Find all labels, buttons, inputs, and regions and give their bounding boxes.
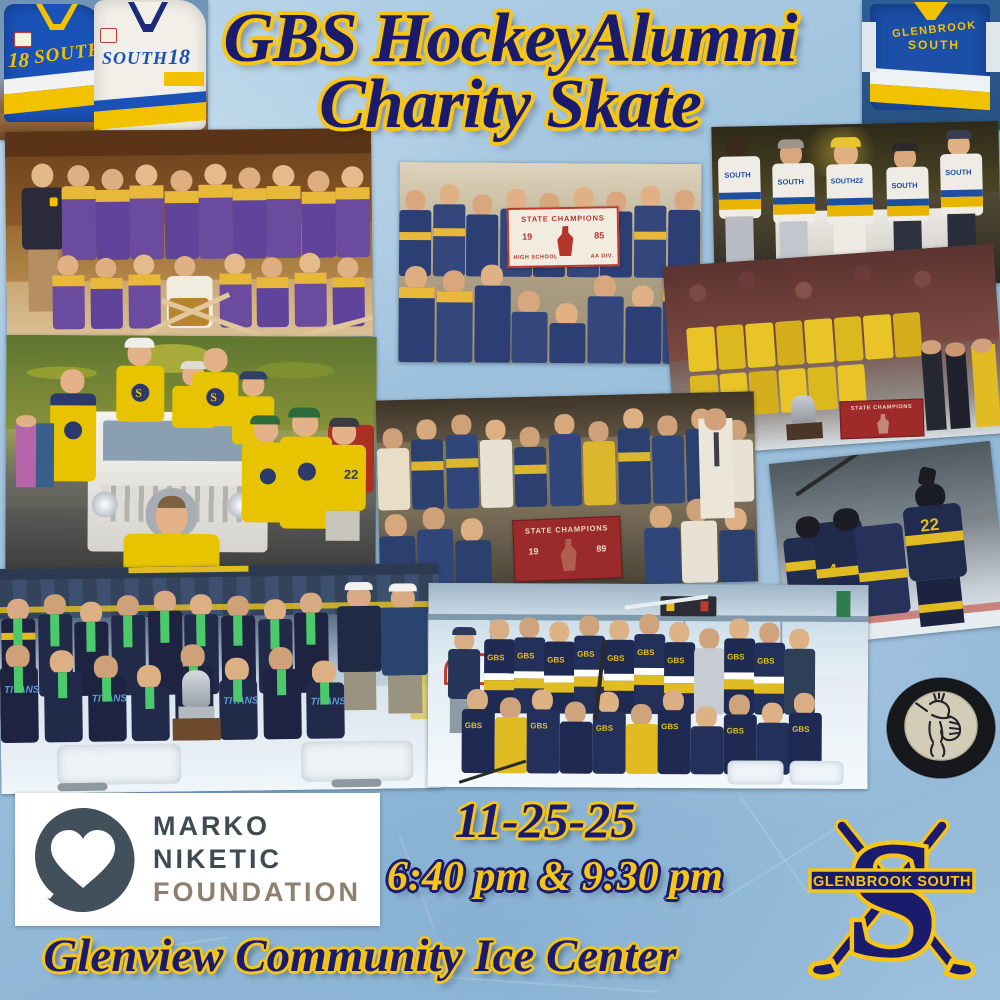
sponsor-name-line-2: NIKETIC bbox=[153, 843, 361, 876]
school-letter-s: S S bbox=[845, 807, 938, 993]
banner-1985: STATE CHAMPIONS 19 85 HIGH SCHOOL AA DIV… bbox=[507, 206, 620, 268]
heart-in-circle-icon bbox=[27, 804, 139, 916]
svg-text:S: S bbox=[845, 807, 938, 993]
sponsor-logo-marko-niketic-foundation: MARKO NIKETIC FOUNDATION bbox=[15, 793, 380, 926]
glenbrook-south-logo: S S GLENBROOK SOUTH bbox=[792, 804, 992, 994]
sponsor-name-line-3: FOUNDATION bbox=[153, 876, 361, 909]
event-date: 11-25-25 bbox=[370, 795, 720, 845]
photo-titans-trophy-medals: TITANS TITANS TITANS TITANS bbox=[0, 563, 442, 794]
poster-title: GBS HockeyAlumni Charity Skate bbox=[130, 6, 890, 138]
photo-homecoming-jeep: S S bbox=[5, 335, 376, 571]
banner-title-1985: STATE CHAMPIONS bbox=[509, 213, 617, 224]
poster-canvas: 18 SOUTH SOUTH 18 GLENBROOK SOUTH bbox=[0, 0, 1000, 1000]
event-times: 6:40 pm & 9:30 pm bbox=[355, 855, 755, 899]
photo-state-champions-1989: STATE CHAMPIONS 19 89 bbox=[376, 391, 759, 590]
title-line-1: GBS HockeyAlumni bbox=[130, 6, 890, 72]
photo-state-champions-1985: STATE CHAMPIONS 19 85 HIGH SCHOOL AA DIV… bbox=[398, 162, 701, 364]
titan-mascot-puck bbox=[886, 676, 996, 780]
sponsor-name-line-1: MARKO bbox=[153, 810, 361, 843]
photo-vintage-team-purple-gold bbox=[5, 128, 373, 340]
photo-gbs-team-on-ice: GBS GBS GBS GBS GBS GBS GBS GBS GBS bbox=[427, 583, 868, 789]
banner-champions-on-ice: STATE CHAMPIONS bbox=[839, 398, 924, 439]
school-banner-text: GLENBROOK SOUTH bbox=[813, 874, 971, 890]
event-venue: Glenview Community Ice Center bbox=[5, 930, 715, 982]
school-name-banner: GLENBROOK SOUTH bbox=[810, 870, 974, 891]
banner-1989: STATE CHAMPIONS 19 89 bbox=[512, 516, 623, 582]
banner-title-1989: STATE CHAMPIONS bbox=[513, 523, 619, 536]
title-line-2: Charity Skate bbox=[130, 72, 890, 138]
